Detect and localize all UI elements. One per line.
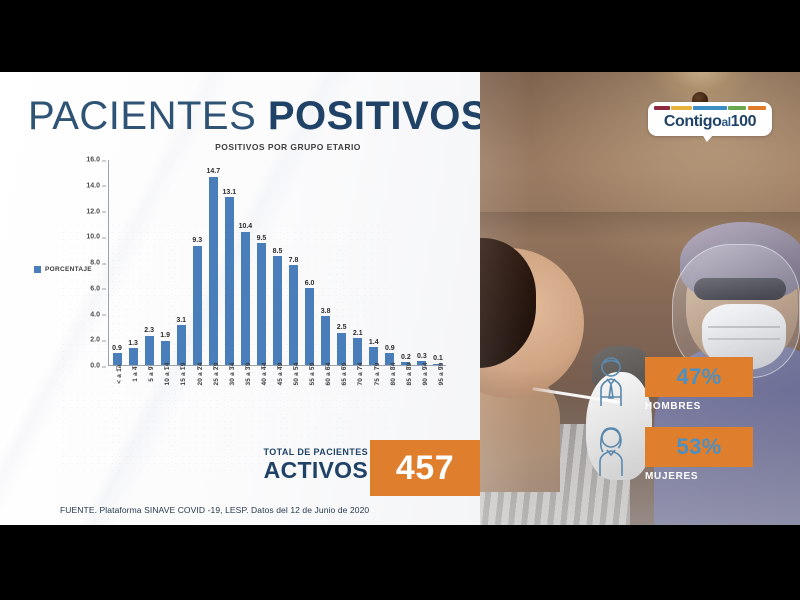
bar-value-label: 0.9: [112, 345, 122, 352]
x-tick-label: 65 a 69: [341, 362, 348, 385]
logo-stripe-segment: [748, 106, 766, 110]
x-tick-label: 20 a 24: [197, 362, 204, 385]
bar: 7.8: [289, 265, 298, 365]
x-tick-label: 10 a 14: [164, 362, 171, 385]
bar-value-label: 9.5: [257, 235, 267, 242]
active-patients-text: TOTAL DE PACIENTES ACTIVOS: [263, 446, 368, 482]
page-title: PACIENTES POSITIVOS: [28, 94, 488, 139]
x-label-slot: 35 a 39: [237, 372, 253, 428]
x-tick-label: 30 a 34: [229, 362, 236, 385]
x-tick-label: 80 a 84: [390, 362, 397, 385]
x-label-slot: 30 a 34: [221, 372, 237, 428]
bar-chart: POSITIVOS POR GRUPO ETARIO PORCENTAJE 16…: [18, 142, 466, 432]
bar-value-label: 0.2: [401, 354, 411, 361]
bar-slot: 0.9: [109, 160, 125, 365]
covid-swab-test-photo: Contigoal100 47% HOMBRES: [480, 72, 800, 525]
x-label-slot: 20 a 24: [188, 372, 204, 428]
bar-slot: 0.2: [398, 160, 414, 365]
bar-slot: 13.1: [221, 160, 237, 365]
source-note: FUENTE. Plataforma SINAVE COVID -19, LES…: [60, 505, 369, 515]
bar-slot: 8.5: [269, 160, 285, 365]
female-person-icon: [588, 424, 634, 476]
x-label-slot: 40 a 44: [253, 372, 269, 428]
logo-name: Contigo: [664, 113, 722, 130]
bar: 1.9: [161, 341, 170, 365]
x-tick-label: 5 a 9: [148, 366, 155, 381]
bar-slot: 1.3: [125, 160, 141, 365]
bar-slot: 2.3: [141, 160, 157, 365]
bar: 2.1: [353, 338, 362, 365]
bar-value-label: 7.8: [289, 257, 299, 264]
x-label-slot: 25 a 29: [205, 372, 221, 428]
page-title-bold: POSITIVOS: [268, 94, 488, 138]
bar-value-label: 10.4: [239, 223, 253, 230]
female-percent-badge: 53%: [645, 427, 753, 467]
bar-slot: 0.9: [382, 160, 398, 365]
page-title-light: PACIENTES: [28, 94, 256, 138]
bar-value-label: 6.0: [305, 280, 315, 287]
x-tick-label: 75 a 79: [374, 362, 381, 385]
bar: 14.7: [209, 177, 218, 365]
y-tick-label: 6.0: [90, 285, 100, 292]
contigo-al-100-logo: Contigoal100: [648, 102, 772, 136]
x-tick-label: 15 a 19: [180, 362, 187, 385]
male-person-icon: [588, 354, 634, 406]
bar-slot: 14.7: [205, 160, 221, 365]
bar: 3.1: [177, 325, 186, 365]
bar-value-label: 1.3: [128, 340, 138, 347]
bar: 0.9: [113, 353, 122, 365]
logo-stripe: [654, 106, 766, 110]
bar-value-label: 0.9: [385, 345, 395, 352]
logo-stripe-segment: [654, 106, 670, 110]
x-tick-label: 1 a 4: [132, 366, 139, 381]
female-label: MUJERES: [645, 471, 698, 482]
x-axis-labels: < a 1a1 a 45 a 910 a 1415 a 1920 a 2425 …: [108, 372, 446, 428]
bar: 10.4: [241, 232, 250, 365]
x-label-slot: < a 1a: [108, 372, 124, 428]
bar-value-label: 2.1: [353, 330, 363, 337]
bar-value-label: 14.7: [206, 168, 220, 175]
x-label-slot: 10 a 14: [156, 372, 172, 428]
x-tick-label: 40 a 44: [261, 362, 268, 385]
male-percent-value: 47%: [677, 364, 722, 390]
legend-swatch-icon: [34, 266, 41, 273]
logo-al: al: [721, 115, 730, 129]
bar-value-label: 2.3: [144, 327, 154, 334]
bar-value-label: 3.8: [321, 308, 331, 315]
bar-slot: 9.3: [189, 160, 205, 365]
active-patients-title: ACTIVOS: [263, 458, 368, 482]
bar-value-label: 3.1: [176, 317, 186, 324]
bar: 1.3: [129, 348, 138, 365]
logo-number: 100: [731, 113, 757, 130]
bar-slot: 0.1: [430, 160, 446, 365]
x-tick-label: 50 a 54: [293, 362, 300, 385]
male-label: HOMBRES: [645, 401, 701, 412]
bar-slot: 1.9: [157, 160, 173, 365]
bar: 8.5: [273, 256, 282, 365]
bar-value-label: 2.5: [337, 324, 347, 331]
y-tick-label: 16.0: [86, 157, 100, 164]
bar-value-label: 13.1: [223, 189, 237, 196]
x-label-slot: 60 a 64: [317, 372, 333, 428]
x-label-slot: 65 a 69: [333, 372, 349, 428]
x-label-slot: 55 a 59: [301, 372, 317, 428]
bar-slot: 2.1: [350, 160, 366, 365]
bar-slot: 3.8: [318, 160, 334, 365]
slide: PACIENTES POSITIVOS POSITIVOS POR GRUPO …: [0, 72, 800, 525]
bar: 3.8: [321, 316, 330, 365]
logo-text: Contigoal100: [654, 113, 766, 131]
logo-stripe-segment: [671, 106, 691, 110]
bar-value-label: 0.3: [417, 353, 427, 360]
bar-value-label: 8.5: [273, 248, 283, 255]
x-label-slot: 70 a 74: [349, 372, 365, 428]
bar-slot: 9.5: [253, 160, 269, 365]
bar-value-label: 9.3: [192, 237, 202, 244]
x-label-slot: 90 a 94: [414, 372, 430, 428]
x-tick-label: 70 a 74: [357, 362, 364, 385]
x-tick-label: < a 1a: [116, 364, 123, 383]
x-tick-label: 35 a 39: [245, 362, 252, 385]
bar-slot: 1.4: [366, 160, 382, 365]
bar: 2.3: [145, 336, 154, 365]
bar-slot: 10.4: [237, 160, 253, 365]
bar-slot: 7.8: [286, 160, 302, 365]
y-tick-label: 12.0: [86, 208, 100, 215]
active-patients-value: 457: [396, 449, 454, 488]
x-tick-label: 55 a 59: [309, 362, 316, 385]
male-percent-badge: 47%: [645, 357, 753, 397]
y-tick-label: 4.0: [90, 311, 100, 318]
y-tick-label: 2.0: [90, 337, 100, 344]
x-label-slot: 95 a 99: [430, 372, 446, 428]
bar: 6.0: [305, 288, 314, 365]
letterbox-top: [0, 0, 800, 72]
x-label-slot: 50 a 54: [285, 372, 301, 428]
bar: 9.3: [193, 246, 202, 365]
bar: 2.5: [337, 333, 346, 365]
y-tick-label: 0.0: [90, 363, 100, 370]
x-tick-label: 25 a 29: [213, 362, 220, 385]
x-tick-label: 95 a 99: [438, 362, 445, 385]
letterbox-bottom: [0, 525, 800, 600]
bar-value-label: 1.4: [369, 339, 379, 346]
x-tick-label: 85 a 89: [406, 362, 413, 385]
chart-title: POSITIVOS POR GRUPO ETARIO: [158, 142, 418, 152]
bar-slot: 2.5: [334, 160, 350, 365]
bar: 13.1: [225, 197, 234, 365]
x-label-slot: 85 a 89: [398, 372, 414, 428]
x-label-slot: 75 a 79: [366, 372, 382, 428]
y-tick-label: 14.0: [86, 182, 100, 189]
bar-slot: 0.3: [414, 160, 430, 365]
y-axis: 16.014.012.010.08.06.04.02.00.0: [74, 160, 106, 366]
plot-area: 0.91.32.31.93.19.314.713.110.49.58.57.86…: [108, 160, 446, 366]
x-tick-label: 90 a 94: [422, 362, 429, 385]
y-tick-label: 8.0: [90, 260, 100, 267]
slide-stage: PACIENTES POSITIVOS POSITIVOS POR GRUPO …: [0, 0, 800, 600]
x-label-slot: 45 a 49: [269, 372, 285, 428]
x-label-slot: 15 a 19: [172, 372, 188, 428]
bar-slot: 6.0: [302, 160, 318, 365]
x-tick-label: 60 a 64: [325, 362, 332, 385]
x-label-slot: 80 a 84: [382, 372, 398, 428]
bar-value-label: 0.1: [433, 355, 443, 362]
x-label-slot: 1 a 4: [124, 372, 140, 428]
logo-stripe-segment: [693, 106, 727, 110]
y-tick-label: 10.0: [86, 234, 100, 241]
logo-stripe-segment: [728, 106, 746, 110]
x-label-slot: 5 a 9: [140, 372, 156, 428]
female-percent-value: 53%: [677, 434, 722, 460]
bar-value-label: 1.9: [160, 332, 170, 339]
bar-slot: 3.1: [173, 160, 189, 365]
active-patients-band: TOTAL DE PACIENTES ACTIVOS 457: [0, 440, 480, 500]
bar-series: 0.91.32.31.93.19.314.713.110.49.58.57.86…: [109, 160, 446, 365]
active-patients-value-box: 457: [370, 440, 480, 496]
bar: 9.5: [257, 243, 266, 365]
x-tick-label: 45 a 49: [277, 362, 284, 385]
